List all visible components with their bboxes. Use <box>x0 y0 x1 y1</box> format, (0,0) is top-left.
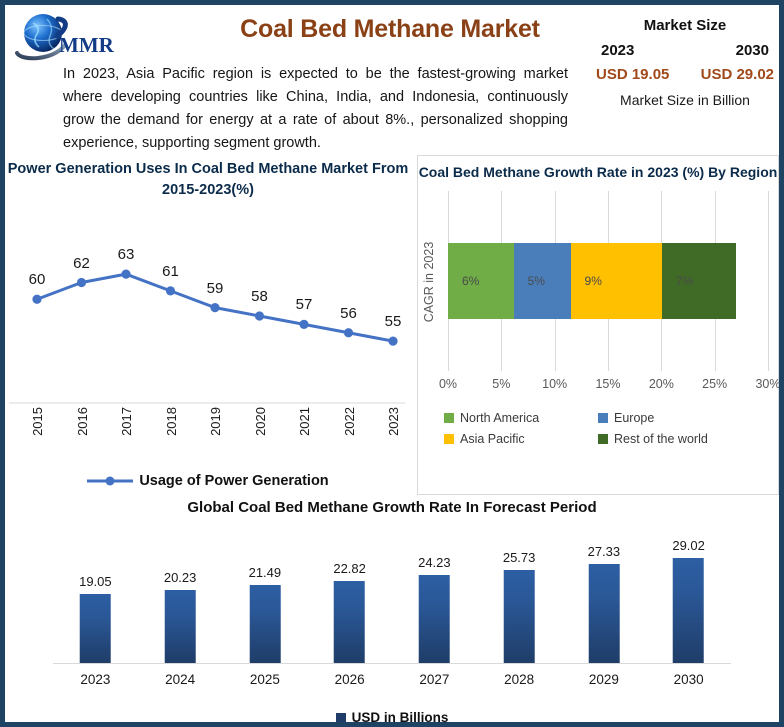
market-size-year-start: 2023 <box>601 42 634 59</box>
line-data-point <box>255 311 264 320</box>
bar-column: 25.73 <box>503 550 536 663</box>
stacked-legend-item: Asia Pacific <box>444 432 598 446</box>
line-data-point <box>388 337 397 346</box>
infographic-frame: MMR Coal Bed Methane Market In 2023, Asi… <box>0 0 784 727</box>
stacked-gridline <box>768 191 769 371</box>
bar-chart-baseline <box>53 663 731 664</box>
line-value-label: 58 <box>251 288 268 305</box>
line-value-label: 61 <box>162 263 179 280</box>
line-chart-x-axis: 201520162017201820192020202120222023 <box>5 405 411 463</box>
legend-swatch-icon <box>598 413 608 423</box>
stacked-legend-label: Rest of the world <box>614 432 708 446</box>
bar-column: 29.02 <box>672 538 705 663</box>
market-size-panel: Market Size 2023 2030 USD 19.05 USD 29.0… <box>595 17 775 108</box>
page-title: Coal Bed Methane Market <box>185 15 595 44</box>
bar-value-label: 29.02 <box>672 538 705 553</box>
stacked-legend-label: Europe <box>614 411 654 425</box>
stacked-segment-rest-of-the-world: 7% <box>662 243 736 319</box>
bar-legend-label: USD in Billions <box>352 710 449 725</box>
line-data-point <box>166 286 175 295</box>
bar-x-tick: 2024 <box>165 672 195 687</box>
bar-column: 20.23 <box>164 570 197 663</box>
forecast-bar-chart: Global Coal Bed Methane Growth Rate In F… <box>5 495 779 722</box>
bar-rect <box>588 564 619 663</box>
legend-swatch-icon <box>444 434 454 444</box>
mmr-logo: MMR <box>13 11 131 63</box>
line-x-tick: 2015 <box>30 407 45 436</box>
stacked-x-tick: 25% <box>702 377 727 391</box>
bar-rect <box>334 581 365 663</box>
stacked-x-tick: 20% <box>649 377 674 391</box>
bar-column: 27.33 <box>588 544 621 663</box>
line-x-tick: 2017 <box>119 407 134 436</box>
stacked-x-tick: 0% <box>439 377 457 391</box>
bar-x-tick: 2023 <box>80 672 110 687</box>
stacked-legend-label: Asia Pacific <box>460 432 525 446</box>
stacked-segment-asia-pacific: 9% <box>571 243 662 319</box>
stacked-legend-label: North America <box>460 411 539 425</box>
stacked-chart-title: Coal Bed Methane Growth Rate in 2023 (%)… <box>418 156 778 183</box>
stacked-chart-plot: CAGR in 2023 6%5%9%7% <box>418 187 778 377</box>
stacked-x-tick: 15% <box>595 377 620 391</box>
bar-rect <box>80 594 111 663</box>
line-value-label: 62 <box>73 255 90 272</box>
bar-column: 19.05 <box>79 574 112 663</box>
market-size-year-end: 2030 <box>736 42 769 59</box>
legend-swatch-icon <box>598 434 608 444</box>
stacked-legend-item: Europe <box>598 411 752 425</box>
header: MMR Coal Bed Methane Market In 2023, Asi… <box>5 5 779 155</box>
line-value-label: 59 <box>207 280 224 297</box>
market-size-label: Market Size <box>595 17 775 34</box>
line-chart-plot: 606263615958575655 <box>5 215 411 405</box>
stacked-chart-y-label: CAGR in 2023 <box>422 242 436 323</box>
line-chart-title: Power Generation Uses In Coal Bed Methan… <box>5 155 411 201</box>
market-size-sublabel: Market Size in Billion <box>595 92 775 108</box>
bar-rect <box>419 575 450 663</box>
bar-rect <box>165 590 196 663</box>
market-size-years: 2023 2030 <box>595 42 775 59</box>
line-x-tick: 2021 <box>297 407 312 436</box>
stacked-x-tick: 30% <box>755 377 780 391</box>
line-data-point <box>121 270 130 279</box>
stacked-chart-area: 6%5%9%7% <box>448 191 768 371</box>
bar-value-label: 20.23 <box>164 570 197 585</box>
line-x-tick: 2016 <box>75 407 90 436</box>
bar-value-label: 27.33 <box>588 544 621 559</box>
bar-column: 22.82 <box>333 561 366 663</box>
bar-chart-plot: 19.0520.2321.4922.8224.2325.7327.3329.02 <box>53 526 731 664</box>
region-growth-stacked-chart: Coal Bed Methane Growth Rate in 2023 (%)… <box>417 155 779 495</box>
power-generation-line-chart: Power Generation Uses In Coal Bed Methan… <box>5 155 411 495</box>
bar-value-label: 24.23 <box>418 555 451 570</box>
bar-legend-swatch-icon <box>336 713 346 723</box>
line-value-label: 56 <box>340 305 357 322</box>
market-size-value-start: USD 19.05 <box>596 66 669 83</box>
line-value-label: 55 <box>385 313 402 330</box>
bar-column: 24.23 <box>418 555 451 663</box>
bar-x-tick: 2029 <box>589 672 619 687</box>
bar-x-tick: 2030 <box>674 672 704 687</box>
legend-swatch-icon <box>444 413 454 423</box>
line-data-point <box>299 320 308 329</box>
stacked-segment-north-america: 6% <box>448 243 514 319</box>
market-size-values: USD 19.05 USD 29.02 <box>595 66 775 83</box>
bar-x-tick: 2027 <box>419 672 449 687</box>
stacked-chart-legend: North AmericaEuropeAsia PacificRest of t… <box>444 411 752 446</box>
line-x-tick: 2023 <box>386 407 401 436</box>
stacked-bar: 6%5%9%7% <box>448 243 736 319</box>
bar-value-label: 19.05 <box>79 574 112 589</box>
line-data-point <box>344 328 353 337</box>
brand-name: MMR <box>59 33 115 57</box>
stacked-legend-item: Rest of the world <box>598 432 752 446</box>
line-value-label: 57 <box>296 296 313 313</box>
line-x-tick: 2022 <box>342 407 357 436</box>
bar-rect <box>673 558 704 663</box>
line-x-tick: 2018 <box>164 407 179 436</box>
bar-column: 21.49 <box>249 565 282 663</box>
stacked-segment-europe: 5% <box>514 243 571 319</box>
bar-rect <box>504 570 535 663</box>
line-value-label: 60 <box>29 271 46 288</box>
line-chart-legend: Usage of Power Generation <box>5 473 411 489</box>
globe-icon: MMR <box>13 11 131 63</box>
line-x-tick: 2019 <box>208 407 223 436</box>
line-data-point <box>32 295 41 304</box>
stacked-x-tick: 10% <box>542 377 567 391</box>
market-size-value-end: USD 29.02 <box>701 66 774 83</box>
line-data-point <box>210 303 219 312</box>
line-legend-marker-icon <box>87 475 133 487</box>
bar-value-label: 25.73 <box>503 550 536 565</box>
line-x-tick: 2020 <box>253 407 268 436</box>
bar-rect <box>249 585 280 663</box>
bar-value-label: 21.49 <box>249 565 282 580</box>
line-legend-label: Usage of Power Generation <box>139 473 328 489</box>
bar-value-label: 22.82 <box>333 561 366 576</box>
bar-chart-title: Global Coal Bed Methane Growth Rate In F… <box>5 495 779 516</box>
middle-charts-row: Power Generation Uses In Coal Bed Methan… <box>5 155 779 495</box>
stacked-chart-x-axis: 0%5%10%15%20%25%30% <box>448 377 768 403</box>
bar-chart-legend: USD in Billions <box>5 710 779 725</box>
stacked-legend-item: North America <box>444 411 598 425</box>
line-value-label: 63 <box>118 246 135 263</box>
stacked-x-tick: 5% <box>492 377 510 391</box>
bar-chart-x-axis: 20232024202520262027202820292030 <box>53 672 731 698</box>
bar-x-tick: 2025 <box>250 672 280 687</box>
bar-x-tick: 2026 <box>335 672 365 687</box>
bar-x-tick: 2028 <box>504 672 534 687</box>
intro-paragraph: In 2023, Asia Pacific region is expected… <box>63 63 568 155</box>
line-data-point <box>77 278 86 287</box>
